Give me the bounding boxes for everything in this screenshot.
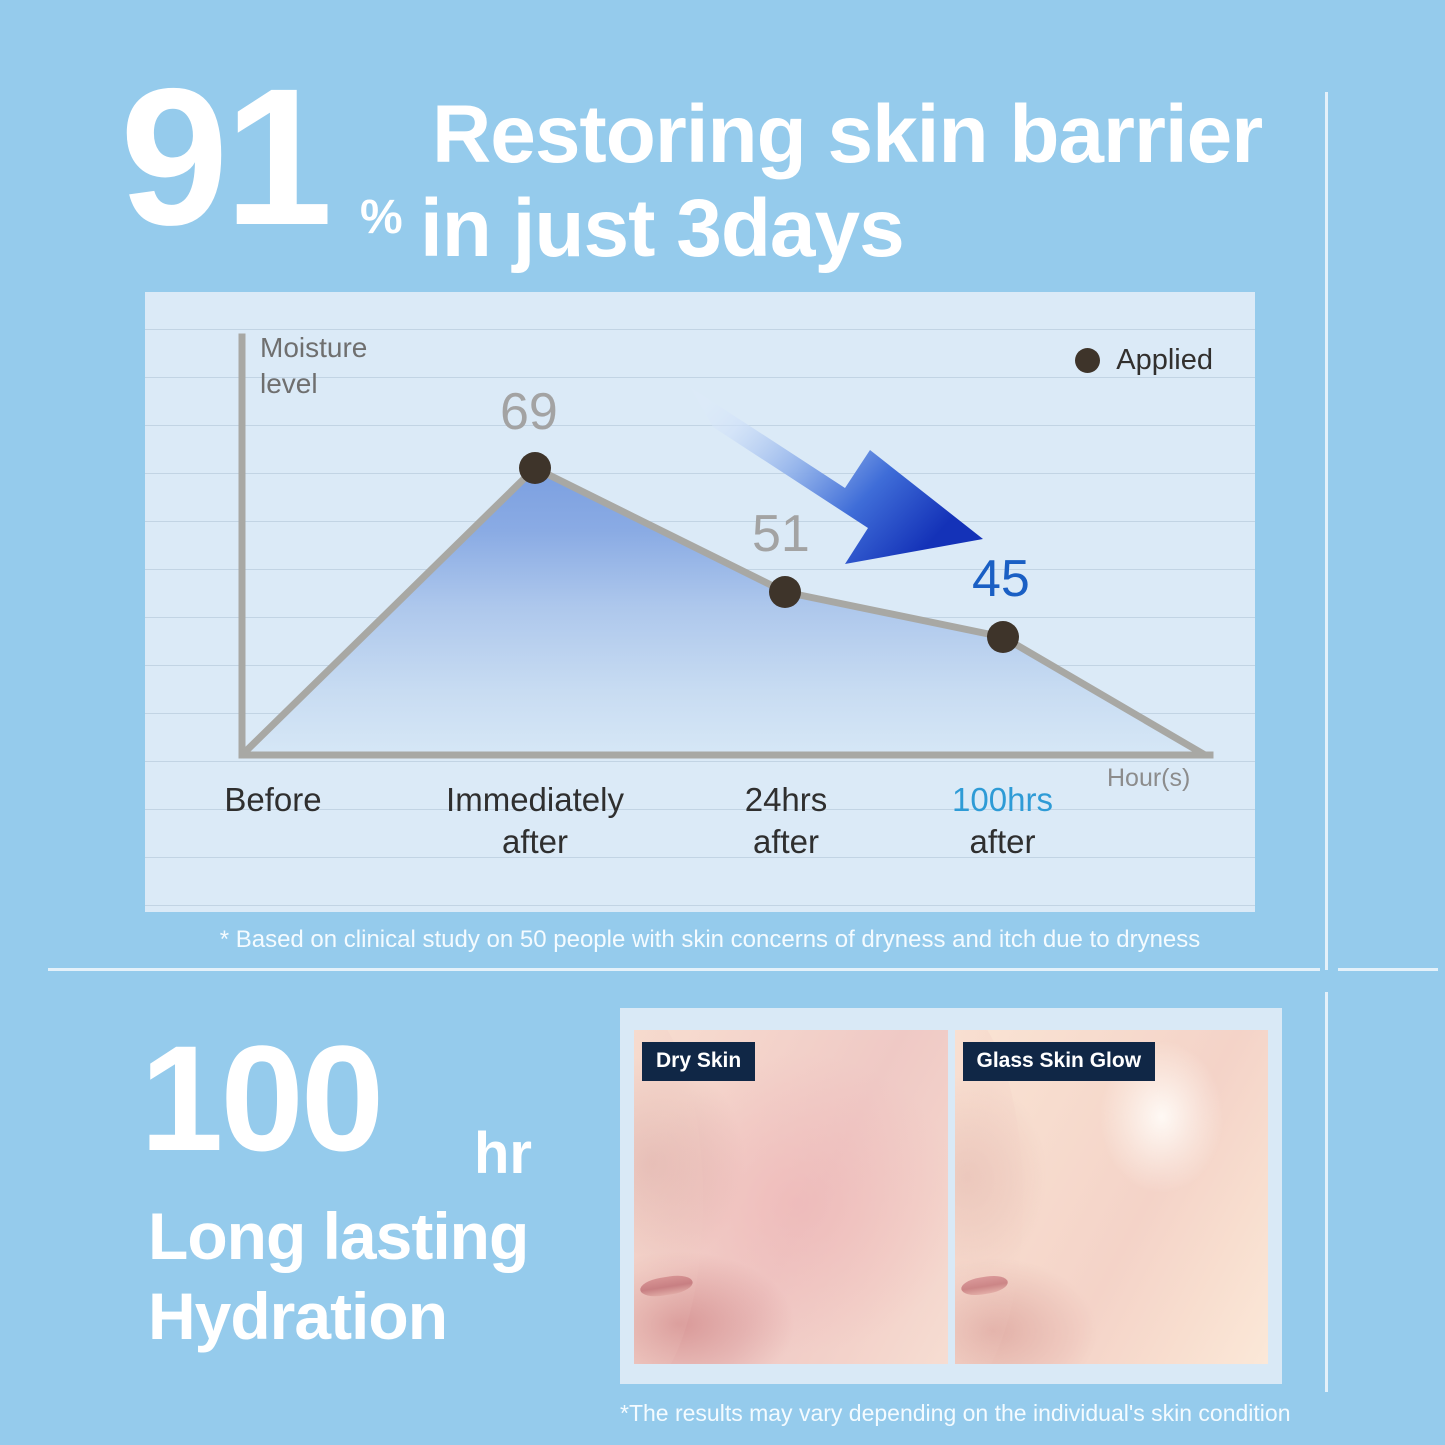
x-axis-label-24hrs-line2: after	[691, 821, 881, 863]
y-axis-label: Moisture level	[260, 330, 410, 402]
horizontal-divider	[48, 968, 1320, 971]
skin-photo-dry: Dry Skin	[634, 1030, 948, 1364]
badge-glass-skin-glow: Glass Skin Glow	[963, 1042, 1156, 1081]
horizontal-divider-right	[1338, 968, 1438, 971]
x-axis-label-24hrs-after: 24hrs after	[691, 779, 881, 863]
claim-line-2: Hydration	[148, 1280, 447, 1352]
headline-line-1: Restoring skin barrier	[432, 94, 1262, 176]
claim-number: 100	[140, 1023, 381, 1173]
x-axis-label-100hrs-line1: 100hrs	[905, 779, 1100, 821]
moisture-chart-panel: Moisture level Applied 69 51 45 Before I…	[145, 292, 1255, 912]
value-label-45: 45	[972, 549, 1030, 609]
headline-line-2: in just 3days	[420, 188, 904, 270]
vertical-divider-top	[1325, 92, 1328, 970]
data-point-immediately-after	[519, 452, 551, 484]
x-axis-label-24hrs-line1: 24hrs	[691, 779, 881, 821]
x-axis-label-100hrs-line2: after	[905, 821, 1100, 863]
skin-photo-grid: Dry Skin Glass Skin Glow	[634, 1030, 1268, 1364]
x-axis-label-before-line1: Before	[173, 779, 373, 821]
x-axis-label-immediately-line1: Immediately	[429, 779, 641, 821]
data-point-100hrs-after	[987, 621, 1019, 653]
value-label-69: 69	[500, 382, 558, 442]
trend-arrow-icon	[690, 387, 983, 564]
badge-dry-skin: Dry Skin	[642, 1042, 755, 1081]
headline-block: 91 % Restoring skin barrier in just 3day…	[120, 78, 1310, 278]
chart-legend: Applied	[1075, 344, 1213, 377]
headline-percent-number: 91	[120, 60, 329, 255]
legend-marker-icon	[1075, 348, 1100, 373]
chart-footnote: * Based on clinical study on 50 people w…	[145, 926, 1275, 954]
legend-label-applied: Applied	[1116, 344, 1213, 377]
skin-photo-glow: Glass Skin Glow	[955, 1030, 1269, 1364]
x-axis-label-immediately-line2: after	[429, 821, 641, 863]
value-label-51: 51	[752, 504, 810, 564]
data-point-24hrs-after	[769, 576, 801, 608]
x-axis-label-immediately-after: Immediately after	[429, 779, 641, 863]
photo-footnote: *The results may vary depending on the i…	[620, 1400, 1282, 1427]
x-axis-label-before: Before	[173, 779, 373, 821]
headline-percent-symbol: %	[360, 194, 403, 242]
claim-unit: hr	[474, 1125, 532, 1183]
vertical-divider-bottom	[1325, 992, 1328, 1392]
claim-line-1: Long lasting	[148, 1200, 528, 1272]
x-axis-label-100hrs-after: 100hrs after	[905, 779, 1100, 863]
x-axis-unit-label: Hour(s)	[1107, 764, 1190, 793]
skin-comparison-panel: Dry Skin Glass Skin Glow	[620, 1008, 1282, 1384]
